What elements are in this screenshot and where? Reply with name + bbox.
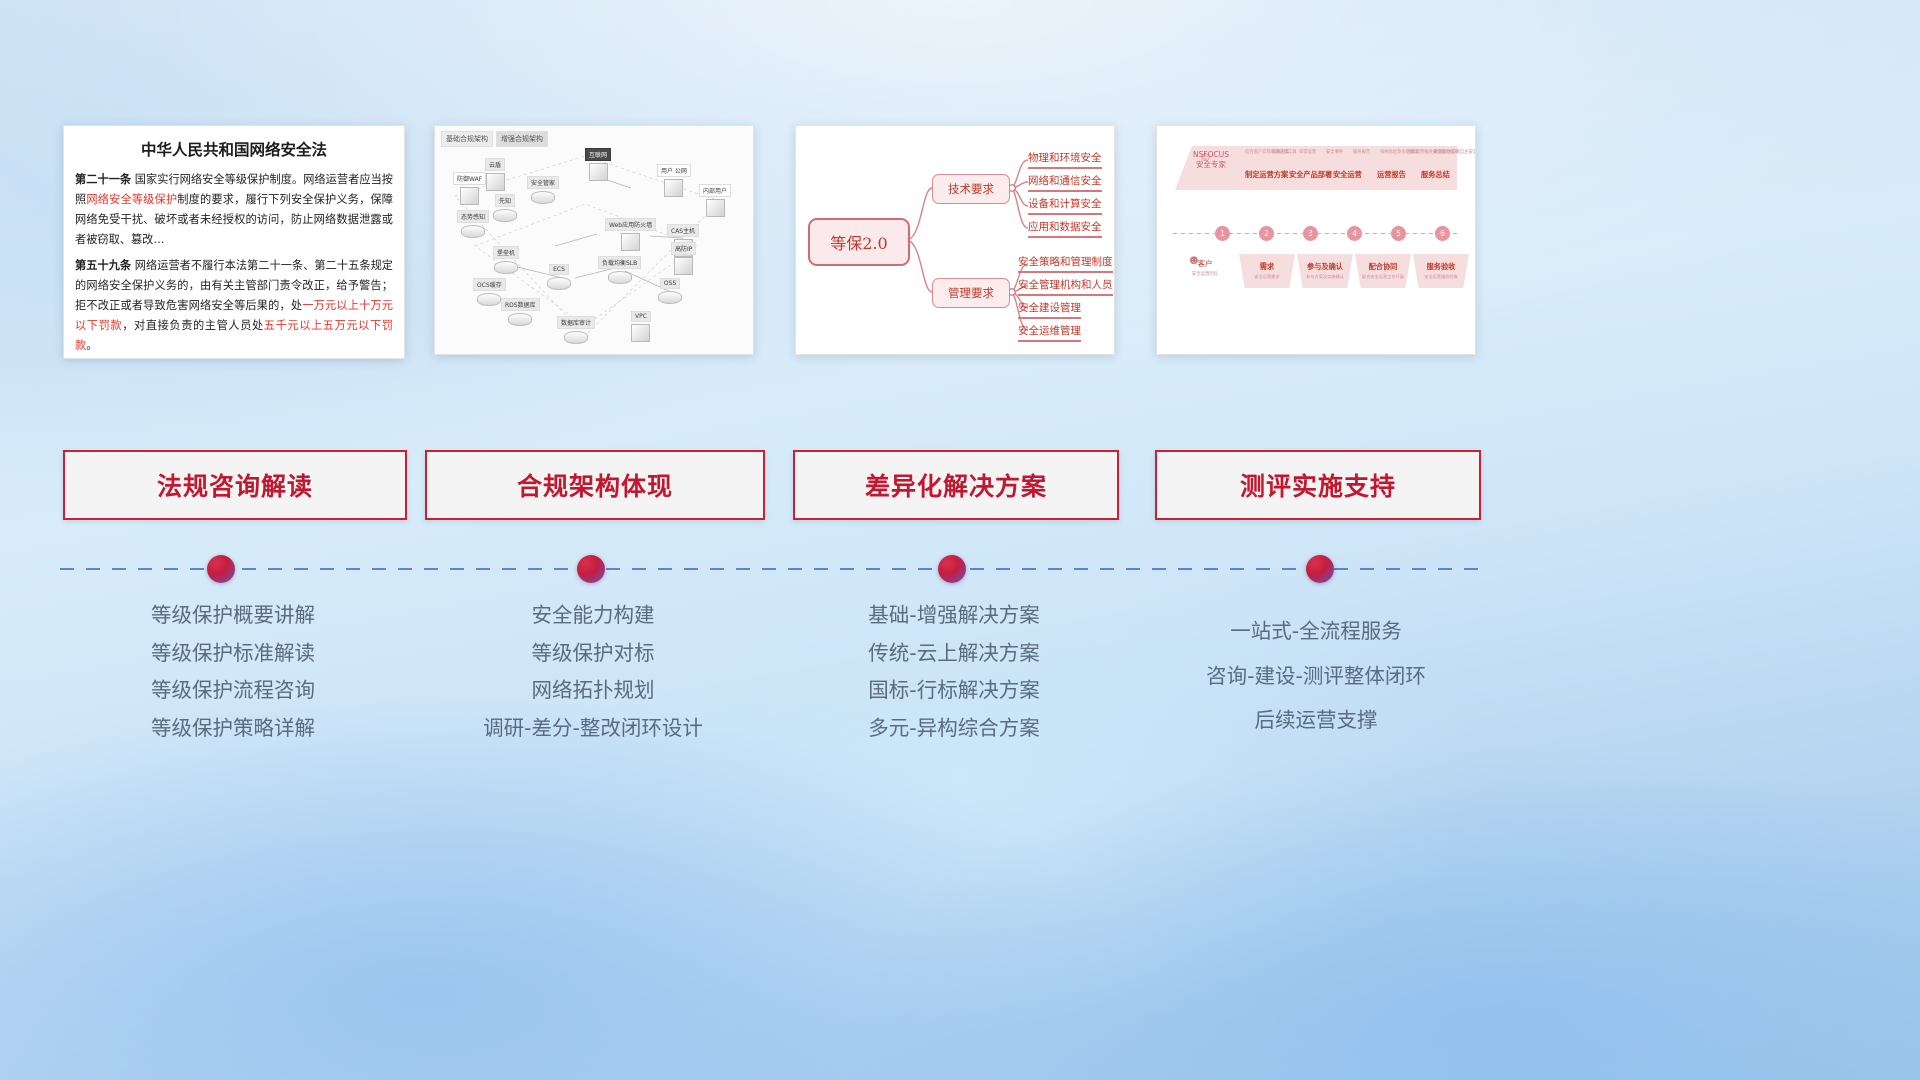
architecture-node: OCS缓存 [473, 278, 506, 306]
architecture-node: ECS [547, 264, 571, 290]
chevron-subtitle: 安全运营服务验收 [1424, 274, 1458, 279]
architecture-node-glyph [674, 257, 693, 275]
timeline-dot-1 [207, 555, 235, 583]
bullet-list: 安全能力构建等级保护对标网络拓扑规划调研-差分-整改闭环设计 [425, 605, 761, 738]
heading-box-compliance-architecture[interactable]: 合规架构体现 [425, 450, 765, 520]
nsfocus-band-caption: 日常运营 [1299, 149, 1316, 155]
law-run: 。 [86, 339, 97, 352]
nsfocus-step-label: 安全产品部署 [1289, 170, 1332, 180]
timeline-dot-4 [1306, 555, 1334, 583]
architecture-node-label: CAS主机 [667, 224, 699, 237]
card-cybersecurity-law: 中华人民共和国网络安全法 第二十一条 国家实行网络安全等级保护制度。网络运营者应… [63, 125, 405, 359]
heading-label: 测评实施支持 [1240, 467, 1396, 503]
nsfocus-band-caption: 安全事件 [1326, 149, 1343, 155]
heading-box-regulation-consulting[interactable]: 法规咨询解读 [63, 450, 407, 520]
law-article-number: 第二十一条 [75, 173, 131, 186]
tab-enhanced-architecture[interactable]: 增强合规架构 [496, 131, 548, 147]
chevron-title: 配合协同 [1369, 262, 1398, 272]
card-cloud-architecture: 基础合规架构 增强合规架构 安全管家先知态势感知堡垒机ECS负载均衡SLBOSS… [434, 125, 754, 355]
nsfocus-timeline: ☺ NSFOCUS 安全专家 结合客户实际明确运营工具实施方案日常运营安全事件服… [1157, 126, 1475, 354]
heading-box-assessment-support[interactable]: 测评实施支持 [1155, 450, 1481, 520]
architecture-node: Web应用防火墙 [605, 218, 656, 251]
list-item: 一站式-全流程服务 [1155, 621, 1477, 642]
mindmap-branch-label: 管理要求 [932, 278, 1010, 308]
architecture-node-glyph [477, 293, 501, 306]
mindmap-leaf: 安全管理机构和人员 [1018, 277, 1113, 296]
architecture-node-glyph [608, 271, 632, 284]
architecture-node-glyph [531, 191, 555, 204]
architecture-node: 互联网 [585, 148, 611, 181]
list-item: 等级保护标准解读 [63, 643, 403, 664]
law-run: ，对直接负责的主管人员处 [122, 319, 264, 332]
architecture-tabs[interactable]: 基础合规架构 增强合规架构 [441, 131, 548, 147]
architecture-node-label: 防御WAF [453, 172, 486, 185]
nsfocus-bottom-chevron: 参与及确认参与方案及实施确认 [1297, 254, 1353, 288]
architecture-node-label: Web应用防火墙 [605, 218, 656, 231]
column-regulation-consulting: 等级保护概要讲解等级保护标准解读等级保护流程咨询等级保护策略详解 [63, 605, 403, 755]
architecture-node-label: OCS缓存 [473, 278, 506, 291]
chevron-title: 需求 [1260, 262, 1274, 272]
nsfocus-band-caption: 实施方案 [1272, 149, 1289, 155]
architecture-node-label: VPC [631, 311, 651, 322]
architecture-node-glyph [706, 199, 725, 217]
nsfocus-expert-label: NSFOCUS 安全专家 [1185, 150, 1237, 170]
mindmap-leaf: 网络和通信安全 [1028, 173, 1102, 192]
nsfocus-step-label: 服务总结 [1421, 170, 1450, 180]
architecture-node-label: 互联网 [585, 148, 611, 161]
list-item: 国标-行标解决方案 [793, 680, 1115, 701]
nsfocus-band-caption: 数据驱动实现自主安全运营能力 [1434, 149, 1476, 155]
architecture-node: 堡垒机 [493, 246, 519, 274]
architecture-node: VPC [631, 311, 651, 342]
mindmap-branch-management: 管理要求 [932, 278, 1010, 308]
mindmap-leaf: 安全运维管理 [1018, 323, 1081, 342]
law-paragraph: 第二十一条 国家实行网络安全等级保护制度。网络运营者应当按照网络安全等级保护制度… [75, 170, 393, 250]
mindmap-branch-label: 技术要求 [932, 174, 1010, 204]
architecture-node-label: 先知 [495, 194, 515, 207]
list-item: 等级保护流程咨询 [63, 680, 403, 701]
law-article-number: 第五十九条 [75, 259, 131, 272]
architecture-node: RDS数据库 [501, 298, 540, 326]
heading-label: 合规架构体现 [517, 467, 673, 503]
customer-subtitle: 安全运营团队 [1179, 271, 1231, 277]
mindmap-leaf: 物理和环境安全 [1028, 150, 1102, 169]
architecture-node-label: 数据库审计 [557, 316, 595, 329]
heading-label: 法规咨询解读 [157, 467, 313, 503]
column-compliance-architecture: 安全能力构建等级保护对标网络拓扑规划调研-差分-整改闭环设计 [425, 605, 761, 755]
timeline-dashed-line [60, 568, 1485, 570]
reference-cards-row: 中华人民共和国网络安全法 第二十一条 国家实行网络安全等级保护制度。网络运营者应… [0, 125, 1920, 360]
list-item: 基础-增强解决方案 [793, 605, 1115, 626]
nsfocus-bottom-chevron: 配合协同配合安全运营工作开展 [1355, 254, 1411, 288]
card-nsfocus-operation-timeline: ☺ NSFOCUS 安全专家 结合客户实际明确运营工具实施方案日常运营安全事件服… [1156, 125, 1476, 355]
nsfocus-dashed-axis [1173, 233, 1459, 234]
nsfocus-customer-label: 客户 安全运营团队 [1179, 258, 1231, 277]
customer-title: 客户 [1198, 259, 1213, 268]
column-differentiated-solution: 基础-增强解决方案传统-云上解决方案国标-行标解决方案多元-异构综合方案 [793, 605, 1115, 755]
architecture-node-label: 内部用户 [699, 184, 731, 197]
chevron-subtitle: 安全运营需求 [1254, 274, 1279, 279]
architecture-node-glyph [493, 209, 517, 222]
nsfocus-step-label: 安全运营 [1333, 170, 1362, 180]
architecture-node-label: ECS [549, 264, 569, 275]
heading-label: 差异化解决方案 [865, 467, 1047, 503]
bullet-list: 一站式-全流程服务咨询-建设-测评整体闭环后续运营支撑 [1155, 621, 1477, 731]
architecture-node-label: 高防IP [671, 242, 696, 255]
architecture-diagram: 基础合规架构 增强合规架构 安全管家先知态势感知堡垒机ECS负载均衡SLBOSS… [435, 126, 753, 354]
architecture-node: 先知 [493, 194, 517, 222]
architecture-node-glyph [664, 179, 683, 197]
architecture-node-glyph [508, 313, 532, 326]
architecture-node: 防御WAF [453, 172, 486, 205]
list-item: 后续运营支撑 [1155, 710, 1477, 731]
bullet-list: 等级保护概要讲解等级保护标准解读等级保护流程咨询等级保护策略详解 [63, 605, 403, 738]
mindmap-leaf: 设备和计算安全 [1028, 196, 1102, 215]
law-run-highlight: 网络安全等级保护 [86, 193, 177, 206]
architecture-node: 负载均衡SLB [598, 256, 641, 284]
architecture-node: 用户 公网 [657, 164, 691, 197]
chevron-subtitle: 配合安全运营工作开展 [1362, 274, 1404, 279]
heading-box-differentiated-solution[interactable]: 差异化解决方案 [793, 450, 1119, 520]
tab-basic-architecture[interactable]: 基础合规架构 [441, 131, 493, 147]
architecture-node-label: OSS [660, 278, 680, 289]
architecture-node: 云盾 [485, 158, 505, 191]
list-item: 咨询-建设-测评整体闭环 [1155, 666, 1477, 687]
mindmap-leaf: 安全策略和管理制度 [1018, 254, 1113, 273]
mindmap-leaf: 安全建设管理 [1018, 300, 1081, 319]
law-paragraph: 第五十九条 网络运营者不履行本法第二十一条、第二十五条规定的网络安全保护义务的，… [75, 256, 393, 356]
architecture-node-label: 态势感知 [457, 210, 489, 223]
architecture-node-glyph [486, 173, 505, 191]
architecture-node-glyph [547, 277, 571, 290]
architecture-node-glyph [494, 261, 518, 274]
list-item: 多元-异构综合方案 [793, 718, 1115, 739]
list-item: 安全能力构建 [425, 605, 761, 626]
chevron-title: 服务验收 [1427, 262, 1456, 272]
architecture-node-glyph [460, 187, 479, 205]
architecture-node-label: 堡垒机 [493, 246, 519, 259]
nsfocus-band-caption: 服务报告 [1353, 149, 1370, 155]
mindmap-leaf: 应用和数据安全 [1028, 219, 1102, 238]
architecture-node-label: 用户 公网 [657, 164, 691, 177]
architecture-node-label: 负载均衡SLB [598, 256, 641, 269]
bullet-list: 基础-增强解决方案传统-云上解决方案国标-行标解决方案多元-异构综合方案 [793, 605, 1115, 738]
mindmap: 等保2.0 技术要求 管理要求 物理和环境安全 网络和通信安全 设备和计算安全 … [796, 126, 1114, 354]
chevron-subtitle: 参与方案及实施确认 [1306, 274, 1344, 279]
mindmap-root-node: 等保2.0 [808, 218, 910, 266]
law-body: 第二十一条 国家实行网络安全等级保护制度。网络运营者应当按照网络安全等级保护制度… [64, 170, 404, 355]
card-mindmap-dengbao: 等保2.0 技术要求 管理要求 物理和环境安全 网络和通信安全 设备和计算安全 … [795, 125, 1115, 355]
list-item: 等级保护策略详解 [63, 718, 403, 739]
section-headings-row: 法规咨询解读 合规架构体现 差异化解决方案 测评实施支持 [0, 450, 1920, 518]
architecture-node-label: RDS数据库 [501, 298, 540, 311]
list-item: 等级保护对标 [425, 643, 761, 664]
architecture-node-glyph [461, 225, 485, 238]
timeline-dot-3 [938, 555, 966, 583]
architecture-node-glyph [631, 324, 650, 342]
nsfocus-step-label: 运营报告 [1377, 170, 1406, 180]
mindmap-branch-technical: 技术要求 [932, 174, 1010, 204]
nsfocus-role: 安全专家 [1185, 160, 1237, 170]
law-title: 中华人民共和国网络安全法 [64, 138, 404, 160]
list-item: 网络拓扑规划 [425, 680, 761, 701]
chevron-title: 参与及确认 [1307, 262, 1343, 272]
architecture-node-glyph [621, 233, 640, 251]
architecture-node: 态势感知 [457, 210, 489, 238]
architecture-node-glyph [658, 291, 682, 304]
timeline-dot-2 [577, 555, 605, 583]
architecture-node: 数据库审计 [557, 316, 595, 344]
architecture-node-label: 安全管家 [527, 176, 559, 189]
nsfocus-bottom-chevron: 需求安全运营需求 [1239, 254, 1295, 288]
list-item: 等级保护概要讲解 [63, 605, 403, 626]
architecture-node-label: 云盾 [485, 158, 505, 171]
architecture-node-glyph [589, 163, 608, 181]
nsfocus-bottom-chevron: 服务验收安全运营服务验收 [1413, 254, 1469, 288]
architecture-node: 安全管家 [527, 176, 559, 204]
list-item: 调研-差分-整改闭环设计 [425, 718, 761, 739]
architecture-node: 高防IP [671, 242, 696, 275]
column-assessment-support: 一站式-全流程服务咨询-建设-测评整体闭环后续运营支撑 [1155, 621, 1477, 755]
nsfocus-brand: NSFOCUS [1185, 150, 1237, 160]
architecture-node: OSS [658, 278, 682, 304]
architecture-node: 内部用户 [699, 184, 731, 217]
nsfocus-step-label: 制定运营方案 [1245, 170, 1288, 180]
architecture-node-glyph [564, 331, 588, 344]
list-item: 传统-云上解决方案 [793, 643, 1115, 664]
